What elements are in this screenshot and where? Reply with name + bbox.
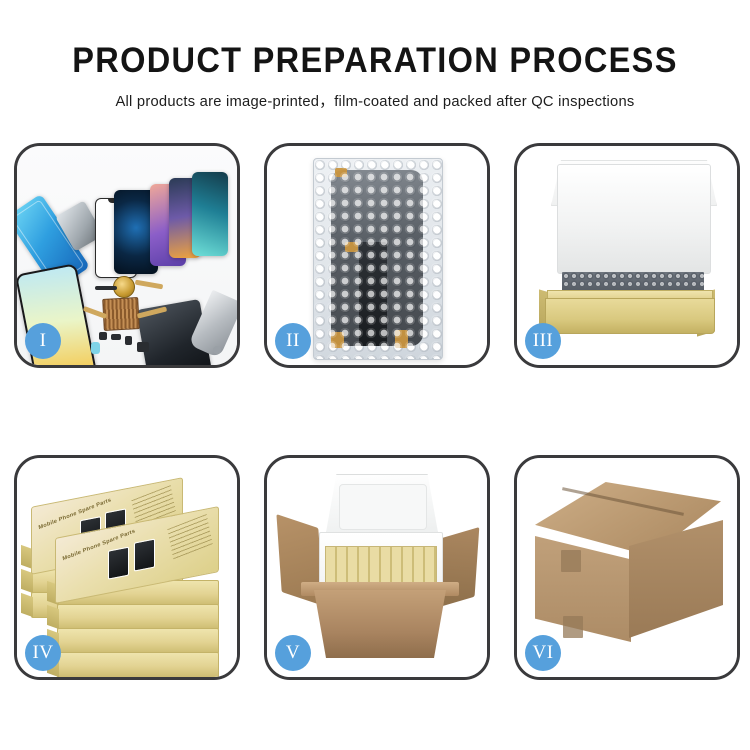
process-step-panel-1[interactable]: I [14, 143, 240, 368]
foam-sheet [557, 164, 711, 274]
shipping-tape-upper [561, 550, 581, 572]
box-phone-image-front-2 [134, 539, 155, 572]
tape-tab-middle [345, 242, 358, 252]
step-badge-3: III [525, 323, 561, 359]
flex-cable-1 [135, 280, 163, 290]
process-step-panel-5[interactable]: V [264, 455, 490, 680]
step-badge-2: II [275, 323, 311, 359]
process-step-panel-6[interactable]: VI [514, 455, 740, 680]
carton-body [305, 590, 455, 658]
process-step-grid: I II III [14, 143, 740, 680]
part-battery-icon [91, 342, 100, 354]
tape-tab-bottom-left [331, 332, 344, 348]
stacked-box-front-4 [57, 652, 219, 677]
part-taptic-icon [137, 342, 149, 352]
part-bracket-icon [111, 334, 121, 340]
box-phone-image-front-1 [108, 547, 129, 580]
part-camera-icon [125, 336, 132, 345]
page-subtitle: All products are image-printed，film-coat… [11, 80, 739, 111]
part-speaker-icon [95, 286, 117, 290]
shipping-tape-lower [563, 616, 583, 638]
styrofoam-lid [325, 474, 439, 538]
stacked-box-front-2 [57, 604, 219, 630]
teal-gradient-phone [192, 172, 228, 256]
part-screw-icon [99, 332, 107, 340]
process-step-panel-3[interactable]: III [514, 143, 740, 368]
part-washer-icon [213, 346, 221, 354]
kraft-tray-front [545, 298, 715, 334]
step-badge-4: IV [25, 635, 61, 671]
tape-tab-bottom-right [395, 330, 408, 348]
step-badge-1: I [25, 323, 61, 359]
header: PRODUCT PREPARATION PROCESS All products… [0, 0, 750, 111]
step-badge-6: VI [525, 635, 561, 671]
page-title: PRODUCT PREPARATION PROCESS [26, 0, 724, 80]
process-step-panel-2[interactable]: II [264, 143, 490, 368]
shipping-carton-front [535, 536, 631, 642]
stacked-box-front-3 [57, 628, 219, 654]
logic-board-icon [102, 297, 140, 331]
process-step-panel-4[interactable]: Mobile Phone Spare Parts Mobile Phone Sp… [14, 455, 240, 680]
box-spec-lines-front [167, 514, 212, 559]
tape-tab-top [335, 168, 347, 177]
wrapped-flex-cable [359, 242, 387, 346]
step-badge-5: V [275, 635, 311, 671]
